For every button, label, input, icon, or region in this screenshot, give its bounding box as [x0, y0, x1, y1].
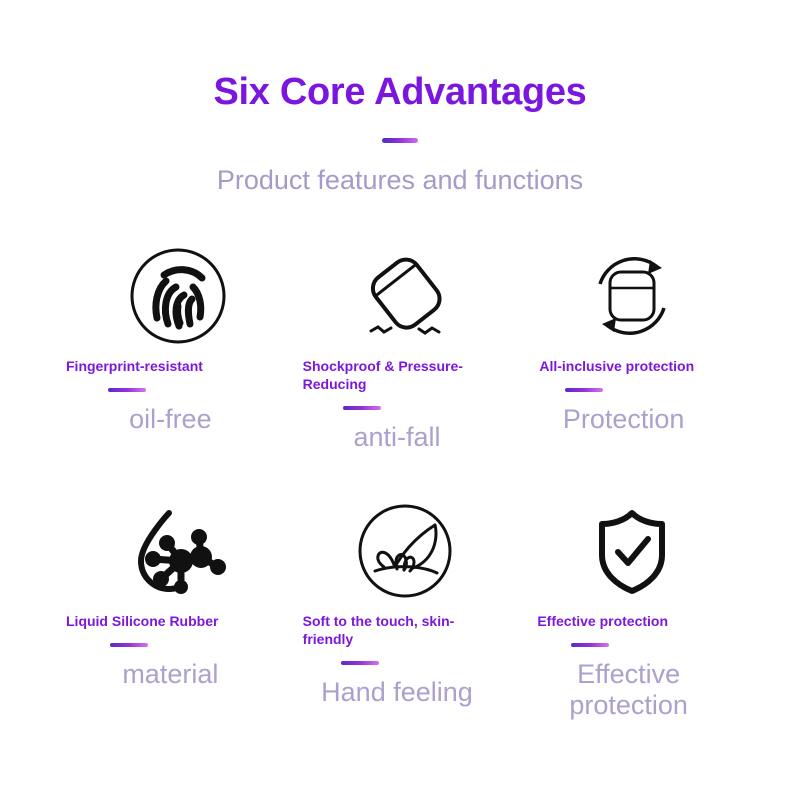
hand-touch-icon [289, 495, 516, 607]
feature-cell-silicone: Liquid Silicone Rubber material [62, 495, 289, 750]
feature-cell-effective-protection: Effective protection Effective protectio… [515, 495, 742, 750]
feature-divider [108, 388, 146, 392]
feature-divider [110, 643, 148, 647]
feature-label: Fingerprint-resistant [62, 358, 203, 376]
feature-caption: Effective protection [515, 659, 742, 721]
all-round-protection-icon [515, 240, 742, 352]
infographic-page: Six Core Advantages Product features and… [0, 0, 800, 800]
feature-label: Soft to the touch, skin-friendly [289, 613, 479, 649]
features-grid: Fingerprint-resistant oil-free Shockp [0, 240, 800, 750]
liquid-silicone-droplet-icon [62, 495, 289, 607]
feature-label: All-inclusive protection [515, 358, 694, 376]
feature-cell-all-inclusive: All-inclusive protection Protection [515, 240, 742, 495]
feature-divider [343, 406, 381, 410]
title-divider [382, 138, 418, 143]
feature-cell-shockproof: Shockproof & Pressure-Reducing anti-fall [289, 240, 516, 495]
header: Six Core Advantages Product features and… [0, 0, 800, 196]
feature-divider [565, 388, 603, 392]
feature-label: Effective protection [515, 613, 668, 631]
feature-caption: Hand feeling [289, 677, 516, 708]
feature-caption: Protection [515, 404, 742, 435]
shockproof-case-icon [289, 240, 516, 352]
page-subtitle: Product features and functions [0, 165, 800, 196]
page-title: Six Core Advantages [0, 72, 800, 114]
feature-label: Shockproof & Pressure-Reducing [289, 358, 494, 394]
feature-label: Liquid Silicone Rubber [62, 613, 218, 631]
shield-check-icon [515, 495, 742, 607]
feature-divider [571, 643, 609, 647]
feature-caption: oil-free [62, 404, 289, 435]
feature-caption: material [62, 659, 289, 690]
feature-cell-soft-touch: Soft to the touch, skin-friendly Hand fe… [289, 495, 516, 750]
feature-caption: anti-fall [289, 422, 516, 453]
fingerprint-icon [62, 240, 289, 352]
feature-cell-fingerprint: Fingerprint-resistant oil-free [62, 240, 289, 495]
feature-divider [341, 661, 379, 665]
